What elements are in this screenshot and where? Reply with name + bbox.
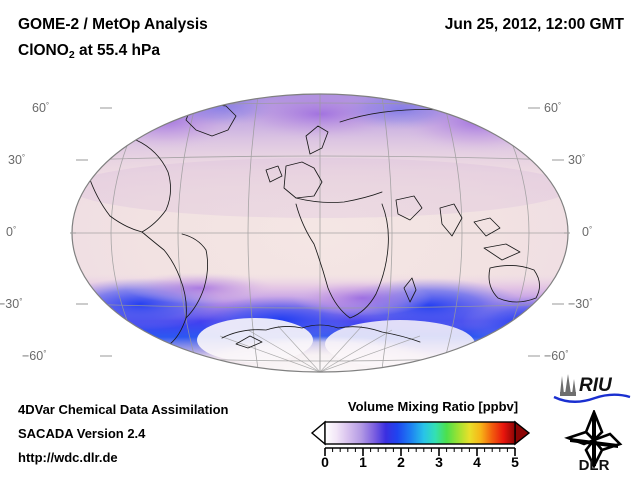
lat-label-left-m60: −60° [22, 348, 46, 363]
colorbar-tick-label-5: 5 [504, 454, 526, 470]
footer-version: SACADA Version 2.4 [18, 426, 145, 441]
lat-label-left-0: 0° [6, 224, 16, 239]
colorbar-over-arrow [515, 422, 529, 444]
figure-root: GOME-2 / MetOp Analysis ClONO2 at 55.4 h… [0, 0, 640, 480]
species-subscript: 2 [69, 49, 75, 61]
mollweide-map [70, 92, 570, 374]
subtitle-species-level: ClONO2 at 55.4 hPa [18, 42, 160, 60]
footer-url[interactable]: http://wdc.dlr.de [18, 450, 118, 465]
riu-logo: RIU [551, 372, 633, 406]
dlr-logo: DLR [558, 410, 632, 472]
colorbar-tick-label-4: 4 [466, 454, 488, 470]
colorbar: 0 1 2 3 4 5 [310, 420, 542, 472]
colorbar-tick-label-0: 0 [314, 454, 336, 470]
colorbar-tick-label-1: 1 [352, 454, 374, 470]
lat-label-right-m30: −30° [568, 296, 592, 311]
species-name: ClONO [18, 42, 69, 59]
level-text: at 55.4 hPa [75, 42, 160, 59]
page-title: GOME-2 / MetOp Analysis [18, 16, 208, 34]
colorbar-tick-label-2: 2 [390, 454, 412, 470]
lat-label-left-30: 30° [8, 152, 25, 167]
timestamp: Jun 25, 2012, 12:00 GMT [445, 16, 624, 34]
footer-method: 4DVar Chemical Data Assimilation [18, 402, 229, 417]
lat-label-right-60: 60° [544, 100, 561, 115]
colorbar-title: Volume Mixing Ratio [ppbv] [333, 399, 533, 414]
colorbar-gradient [325, 422, 515, 444]
riu-wordmark: RIU [579, 375, 613, 396]
map-panel: 60° 30° 0° −30° −60° 60° 30° 0° −30° −60… [70, 92, 570, 374]
colorbar-under-arrow [312, 422, 325, 444]
lat-label-right-0: 0° [582, 224, 592, 239]
lat-label-left-m30: −30° [0, 296, 22, 311]
lat-label-left-60: 60° [32, 100, 49, 115]
lat-label-right-m60: −60° [544, 348, 568, 363]
lat-label-right-30: 30° [568, 152, 585, 167]
dlr-wordmark: DLR [579, 457, 610, 472]
colorbar-tick-label-3: 3 [428, 454, 450, 470]
